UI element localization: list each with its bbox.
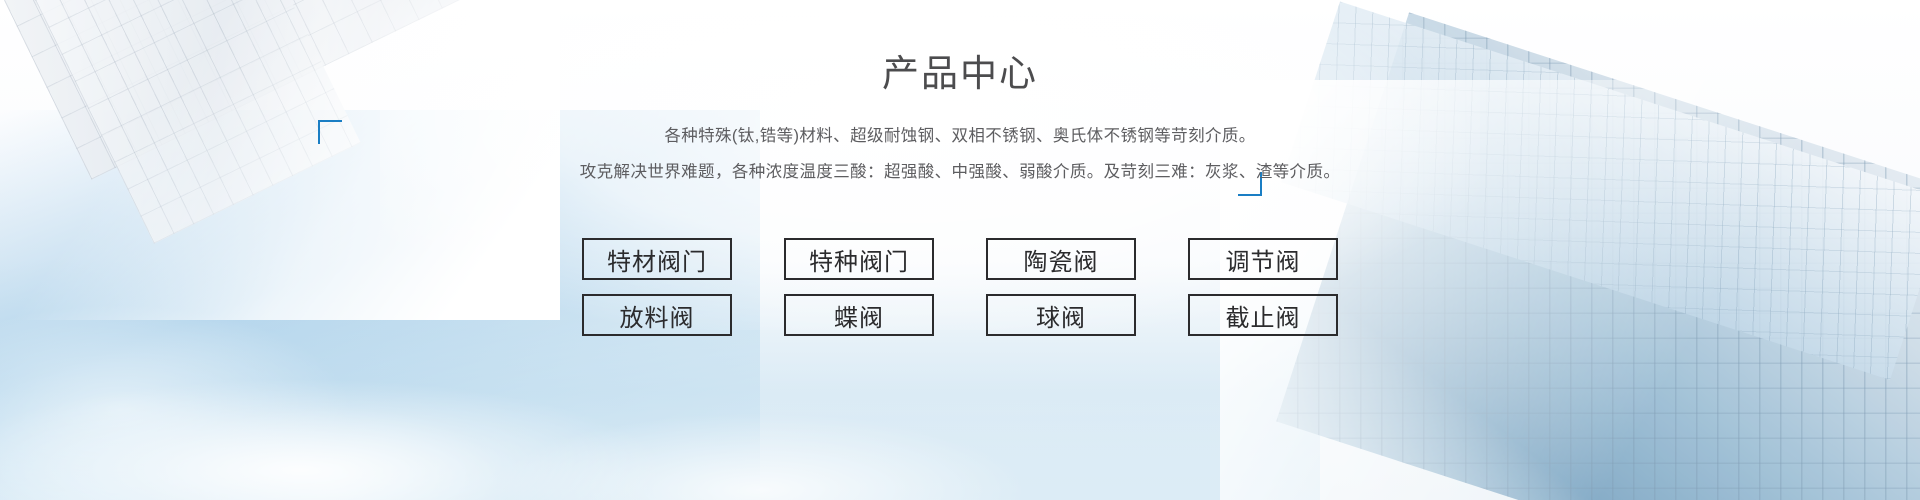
product-center-banner: 产品中心 各种特殊(钛,锆等)材料、超级耐蚀钢、双相不锈钢、奥氏体不锈钢等苛刻介… — [0, 0, 1920, 500]
product-category-row-1: 特材阀门 特种阀门 陶瓷阀 调节阀 — [582, 238, 1338, 280]
description-block: 各种特殊(钛,锆等)材料、超级耐蚀钢、双相不锈钢、奥氏体不锈钢等苛刻介质。 攻克… — [0, 118, 1920, 190]
category-button-taoci-fa[interactable]: 陶瓷阀 — [986, 238, 1136, 280]
category-button-tecai-famen[interactable]: 特材阀门 — [582, 238, 732, 280]
banner-content: 产品中心 各种特殊(钛,锆等)材料、超级耐蚀钢、双相不锈钢、奥氏体不锈钢等苛刻介… — [0, 0, 1920, 500]
category-button-qiu-fa[interactable]: 球阀 — [986, 294, 1136, 336]
category-button-die-fa[interactable]: 蝶阀 — [784, 294, 934, 336]
category-button-jiezhi-fa[interactable]: 截止阀 — [1188, 294, 1338, 336]
page-title: 产品中心 — [0, 52, 1920, 96]
category-button-tezhong-famen[interactable]: 特种阀门 — [784, 238, 934, 280]
description-line-2: 攻克解决世界难题，各种浓度温度三酸：超强酸、中强酸、弱酸介质。及苛刻三难：灰浆、… — [580, 154, 1341, 190]
category-button-tiaojie-fa[interactable]: 调节阀 — [1188, 238, 1338, 280]
category-button-fangliao-fa[interactable]: 放料阀 — [582, 294, 732, 336]
description-line-1: 各种特殊(钛,锆等)材料、超级耐蚀钢、双相不锈钢、奥氏体不锈钢等苛刻介质。 — [664, 118, 1255, 154]
product-category-row-2: 放料阀 蝶阀 球阀 截止阀 — [582, 294, 1338, 336]
product-category-grid: 特材阀门 特种阀门 陶瓷阀 调节阀 放料阀 蝶阀 球阀 截止阀 — [0, 238, 1920, 336]
